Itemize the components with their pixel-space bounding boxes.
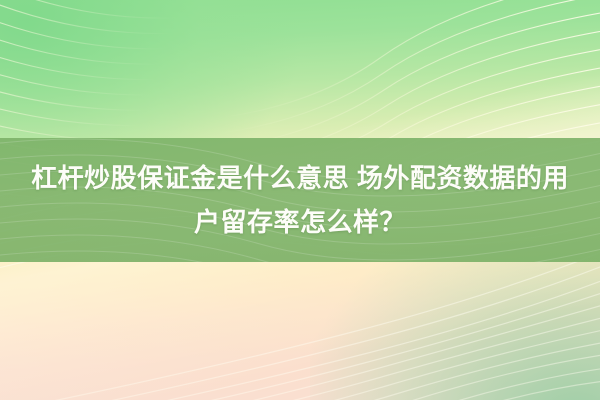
page-title: 杠杆炒股保证金是什么意思 场外配资数据的用户留存率怎么样？ (28, 156, 573, 244)
title-band: 杠杆炒股保证金是什么意思 场外配资数据的用户留存率怎么样？ (0, 138, 600, 262)
article-title-banner: 杠杆炒股保证金是什么意思 场外配资数据的用户留存率怎么样？ (0, 0, 600, 400)
